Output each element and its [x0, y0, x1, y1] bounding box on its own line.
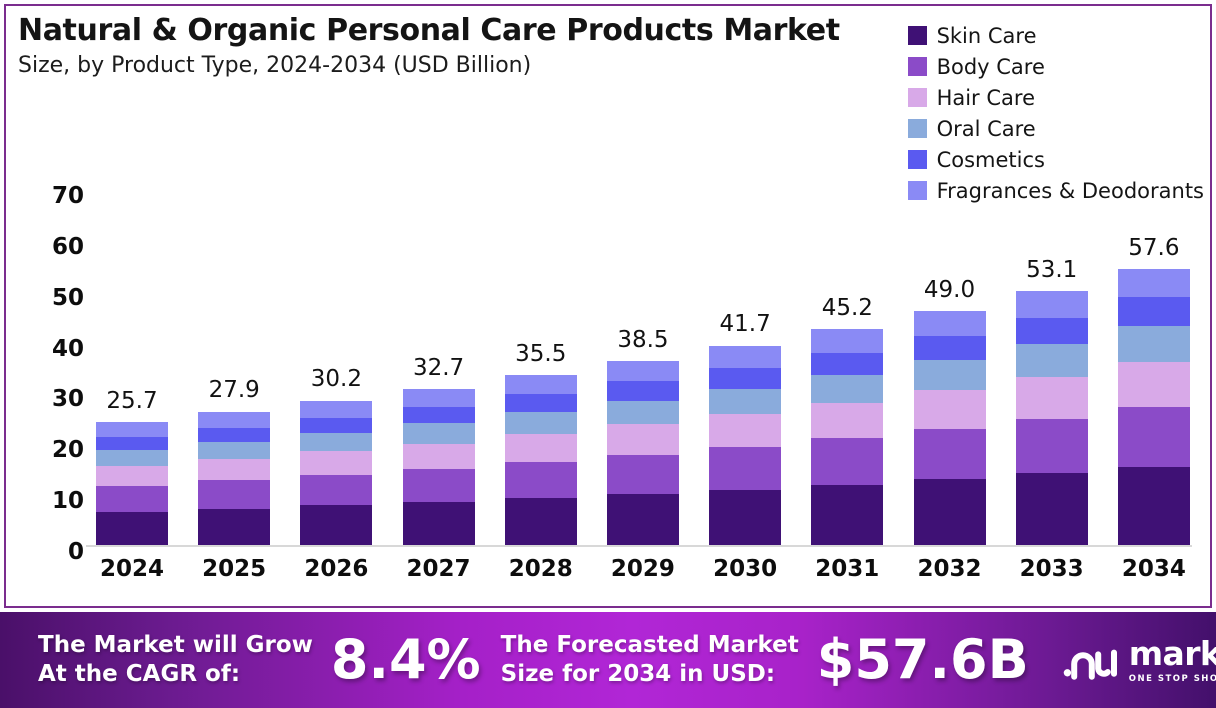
bar-segment[interactable] — [811, 485, 883, 545]
y-axis-tick: 20 — [52, 437, 84, 463]
bar-segment[interactable] — [300, 475, 372, 506]
y-axis-tick: 30 — [52, 386, 84, 412]
bar-column[interactable]: 53.1 — [1016, 210, 1088, 545]
bar-segment[interactable] — [1016, 291, 1088, 318]
bar-segment[interactable] — [198, 480, 270, 508]
cagr-label-line1: The Market will Grow — [38, 631, 313, 660]
y-axis-tick: 50 — [52, 285, 84, 311]
y-axis-tick: 60 — [52, 234, 84, 260]
bar-segment[interactable] — [914, 429, 986, 479]
bar-segment[interactable] — [505, 394, 577, 412]
bar-segment[interactable] — [300, 505, 372, 545]
bar-column[interactable]: 41.7 — [709, 210, 781, 545]
bar-segment[interactable] — [505, 498, 577, 545]
bar-segment[interactable] — [96, 422, 168, 437]
bar-segment[interactable] — [1016, 377, 1088, 419]
bar-segment[interactable] — [403, 423, 475, 443]
bar-segment[interactable] — [300, 451, 372, 474]
y-axis-tick: 10 — [52, 488, 84, 514]
bar-segment[interactable] — [709, 346, 781, 368]
bar-segment[interactable] — [1016, 473, 1088, 545]
y-axis-tick: 70 — [52, 183, 84, 209]
bar-segment[interactable] — [1016, 318, 1088, 344]
bar-segment[interactable] — [811, 353, 883, 375]
x-axis-tick: 2033 — [1016, 556, 1088, 586]
bar-segment[interactable] — [1118, 269, 1190, 297]
market-us-logo[interactable]: market.us ONE STOP SHOP FOR THE REPORTS — [1063, 637, 1216, 684]
axis-baseline — [86, 545, 1192, 547]
x-axis-tick: 2026 — [300, 556, 372, 586]
cagr-label: The Market will Grow At the CAGR of: — [38, 631, 313, 689]
bar-segment[interactable] — [914, 479, 986, 545]
x-axis-tick: 2025 — [198, 556, 270, 586]
y-axis-tick: 0 — [68, 539, 84, 565]
bar-segment[interactable] — [1016, 344, 1088, 377]
forecast-size-line2: Size for 2034 in USD: — [501, 660, 799, 689]
bar-segment[interactable] — [300, 401, 372, 418]
bar-column[interactable]: 25.7 — [96, 210, 168, 545]
bar-segment[interactable] — [505, 412, 577, 434]
bar-group: 25.727.930.232.735.538.541.745.249.053.1… — [96, 210, 1190, 545]
bar-segment[interactable] — [403, 502, 475, 545]
bar-segment[interactable] — [96, 486, 168, 512]
bar-segment[interactable] — [300, 433, 372, 452]
bar-segment[interactable] — [811, 403, 883, 438]
bar-segment[interactable] — [709, 389, 781, 415]
y-axis-tick: 40 — [52, 336, 84, 362]
bar-column[interactable]: 57.6 — [1118, 210, 1190, 545]
forecast-size-label: The Forecasted Market Size for 2034 in U… — [501, 631, 799, 689]
bar-column[interactable]: 30.2 — [300, 210, 372, 545]
bar-segment[interactable] — [1016, 419, 1088, 474]
x-axis: 2024202520262027202820292030203120322033… — [96, 556, 1190, 586]
bar-column[interactable]: 27.9 — [198, 210, 270, 545]
bar-segment[interactable] — [1118, 407, 1190, 466]
bar-column[interactable]: 38.5 — [607, 210, 679, 545]
bar-segment[interactable] — [505, 434, 577, 462]
bar-total-label: 35.5 — [505, 341, 577, 367]
bar-segment[interactable] — [607, 361, 679, 382]
forecast-size-value: $57.6B — [817, 633, 1029, 687]
x-axis-tick: 2031 — [811, 556, 883, 586]
bar-segment[interactable] — [96, 437, 168, 450]
bar-segment[interactable] — [811, 329, 883, 353]
logo-tagline: ONE STOP SHOP FOR THE REPORTS — [1129, 675, 1216, 684]
bar-total-label: 49.0 — [914, 277, 986, 303]
x-axis-tick: 2032 — [914, 556, 986, 586]
bar-segment[interactable] — [607, 424, 679, 454]
bar-column[interactable]: 32.7 — [403, 210, 475, 545]
x-axis-tick: 2030 — [709, 556, 781, 586]
bar-segment[interactable] — [1118, 326, 1190, 362]
bar-segment[interactable] — [1118, 297, 1190, 326]
x-axis-tick: 2029 — [607, 556, 679, 586]
bar-segment[interactable] — [811, 438, 883, 484]
bar-segment[interactable] — [403, 407, 475, 423]
bar-segment[interactable] — [403, 389, 475, 408]
bar-segment[interactable] — [607, 455, 679, 494]
bar-column[interactable]: 35.5 — [505, 210, 577, 545]
bar-column[interactable]: 49.0 — [914, 210, 986, 545]
x-axis-tick: 2027 — [403, 556, 475, 586]
market-us-logo-text: market.us ONE STOP SHOP FOR THE REPORTS — [1129, 637, 1216, 684]
bar-segment[interactable] — [914, 336, 986, 360]
bar-total-label: 41.7 — [709, 311, 781, 337]
bar-segment[interactable] — [505, 375, 577, 394]
cagr-label-line2: At the CAGR of: — [38, 660, 313, 689]
x-axis-tick: 2028 — [505, 556, 577, 586]
bar-segment[interactable] — [709, 368, 781, 389]
bar-segment[interactable] — [198, 459, 270, 481]
bar-segment[interactable] — [198, 412, 270, 428]
bar-segment[interactable] — [914, 311, 986, 336]
bar-segment[interactable] — [1118, 362, 1190, 407]
bar-total-label: 38.5 — [607, 327, 679, 353]
bar-segment[interactable] — [96, 450, 168, 466]
forecast-size-line1: The Forecasted Market — [501, 631, 799, 660]
y-axis: 706050403020100 — [38, 196, 84, 552]
bar-total-label: 53.1 — [1016, 257, 1088, 283]
bar-total-label: 45.2 — [811, 295, 883, 321]
bar-total-label: 57.6 — [1118, 235, 1190, 261]
bar-total-label: 27.9 — [198, 377, 270, 403]
bar-segment[interactable] — [709, 490, 781, 546]
bar-segment[interactable] — [709, 414, 781, 447]
bar-segment[interactable] — [403, 444, 475, 469]
plot-area: 706050403020100 25.727.930.232.735.538.5… — [0, 0, 1216, 608]
market-infographic: Natural & Organic Personal Care Products… — [0, 0, 1216, 708]
bar-total-label: 30.2 — [300, 366, 372, 392]
bar-segment[interactable] — [607, 494, 679, 545]
bar-segment[interactable] — [1118, 467, 1190, 545]
bar-segment[interactable] — [914, 390, 986, 428]
logo-wordmark: market.us — [1129, 634, 1216, 673]
bar-segment[interactable] — [709, 447, 781, 490]
bar-column[interactable]: 45.2 — [811, 210, 883, 545]
market-us-logo-icon — [1063, 640, 1119, 680]
bar-total-label: 32.7 — [403, 355, 475, 381]
bar-segment[interactable] — [300, 418, 372, 433]
bar-segment[interactable] — [198, 509, 270, 545]
summary-banner: The Market will Grow At the CAGR of: 8.4… — [0, 612, 1216, 708]
bar-segment[interactable] — [96, 512, 168, 546]
bar-segment[interactable] — [914, 360, 986, 390]
x-axis-tick: 2024 — [96, 556, 168, 586]
bar-segment[interactable] — [607, 401, 679, 425]
bar-segment[interactable] — [403, 469, 475, 502]
bar-segment[interactable] — [811, 375, 883, 403]
bar-segment[interactable] — [505, 462, 577, 498]
bar-segment[interactable] — [198, 428, 270, 442]
x-axis-tick: 2034 — [1118, 556, 1190, 586]
bar-total-label: 25.7 — [96, 388, 168, 414]
bar-segment[interactable] — [607, 381, 679, 400]
cagr-value: 8.4% — [331, 633, 481, 687]
bar-segment[interactable] — [198, 442, 270, 459]
bar-segment[interactable] — [96, 466, 168, 486]
